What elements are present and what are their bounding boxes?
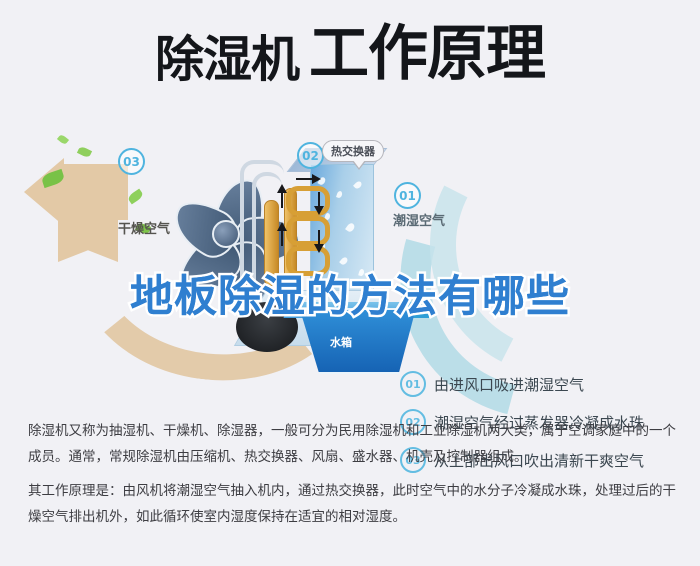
- leaf-icon: [57, 134, 69, 146]
- flow-arrow-up-icon: [277, 222, 287, 231]
- flow-arrow-down-icon: [314, 206, 324, 215]
- step-number: 01: [400, 371, 426, 397]
- flow-arrow-stem: [281, 192, 283, 208]
- dry-air-arrow-head-icon: [24, 158, 64, 226]
- heat-exchanger-callout: 热交换器: [322, 140, 384, 162]
- body-paragraph-2: 其工作原理是：由风机将潮湿空气抽入机内，通过热交换器，此时空气中的水分子冷凝成水…: [28, 478, 676, 530]
- page-title: 除湿机 工作原理: [0, 24, 700, 84]
- humid-air-label: 潮湿空气: [393, 210, 445, 229]
- dry-air-label: 干燥空气: [118, 218, 170, 237]
- coil-loop: [286, 216, 330, 246]
- water-tank-label: 水箱: [330, 334, 352, 350]
- dry-air-arrow-body: [58, 164, 128, 220]
- infographic-page: 除湿机 工作原理: [0, 0, 700, 566]
- flow-arrow-stem: [281, 230, 283, 246]
- watermark-text: 地板除湿的方法有哪些: [0, 262, 700, 324]
- flow-arrow-right-icon: [312, 174, 321, 184]
- badge-01: 01: [394, 182, 421, 209]
- list-item: 01 由进风口吸进潮湿空气: [400, 365, 690, 403]
- fan-hub: [212, 220, 240, 248]
- leaf-icon: [77, 146, 92, 159]
- page-title-part1: 除湿机: [155, 35, 299, 84]
- page-title-part2: 工作原理: [309, 24, 545, 84]
- flow-arrow-up-icon: [277, 184, 287, 193]
- flow-arrow-down-icon: [314, 244, 324, 253]
- badge-02: 02: [297, 142, 324, 169]
- flow-arrow-stem: [296, 178, 312, 180]
- step-text: 由进风口吸进潮湿空气: [434, 374, 584, 395]
- body-paragraph-1: 除湿机又称为抽湿机、干燥机、除湿器，一般可分为民用除湿机和工业除湿机两大类，属于…: [28, 418, 676, 470]
- badge-03: 03: [118, 148, 145, 175]
